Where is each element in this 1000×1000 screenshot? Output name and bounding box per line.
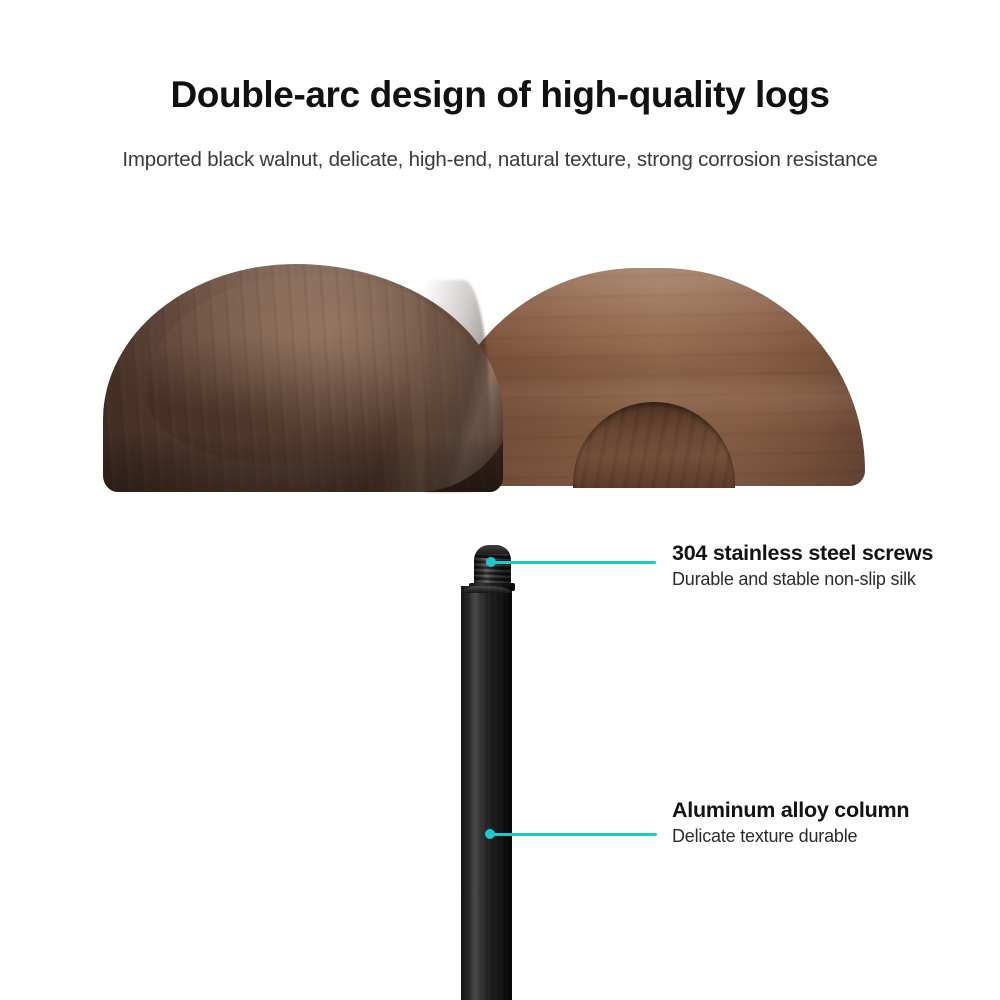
callout-subtitle-column: Delicate texture durable [672, 826, 909, 847]
column-sheen [461, 586, 512, 1000]
product-image-column [0, 0, 1000, 1000]
callout-title-column: Aluminum alloy column [672, 798, 909, 823]
callout-screws: 304 stainless steel screws Durable and s… [672, 541, 933, 590]
callout-leader-line-column [493, 833, 657, 836]
callout-leader-line-screws [494, 561, 656, 564]
callout-subtitle-screws: Durable and stable non-slip silk [672, 569, 933, 590]
aluminum-column-body [461, 586, 512, 1000]
callout-column: Aluminum alloy column Delicate texture d… [672, 798, 909, 847]
callout-title-screws: 304 stainless steel screws [672, 541, 933, 566]
